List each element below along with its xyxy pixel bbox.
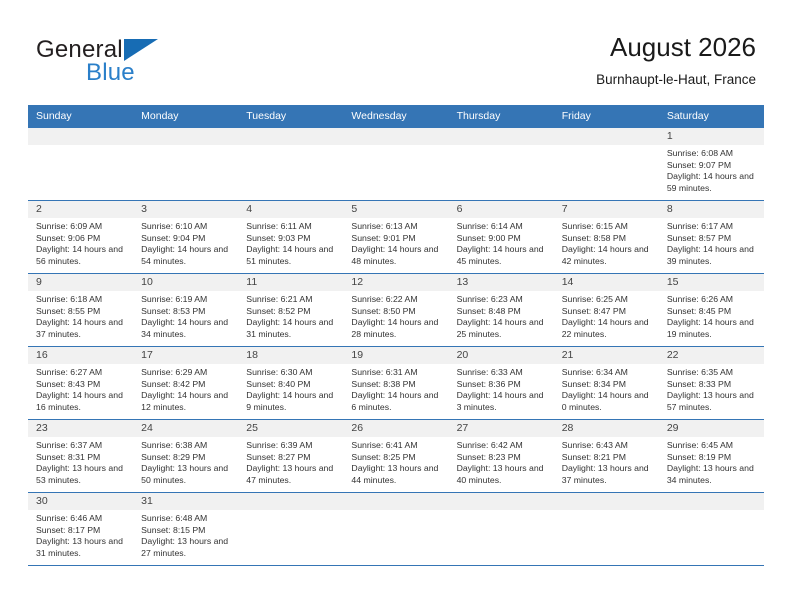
sunset-text: Sunset: 9:00 PM (457, 233, 550, 245)
calendar-day-cell[interactable]: 6Sunrise: 6:14 AMSunset: 9:00 PMDaylight… (449, 201, 554, 274)
calendar-day-cell[interactable]: 24Sunrise: 6:38 AMSunset: 8:29 PMDayligh… (133, 420, 238, 493)
day-number: 29 (659, 420, 764, 437)
day-number: 23 (28, 420, 133, 437)
day-details: Sunrise: 6:21 AMSunset: 8:52 PMDaylight:… (238, 291, 343, 340)
calendar-body: 1Sunrise: 6:08 AMSunset: 9:07 PMDaylight… (28, 128, 764, 566)
calendar-cell-inner: 31Sunrise: 6:48 AMSunset: 8:15 PMDayligh… (133, 493, 238, 565)
sunset-text: Sunset: 8:29 PM (141, 452, 234, 464)
daylight-text: Daylight: 14 hours and 39 minutes. (667, 244, 760, 267)
calendar-cell-inner: 12Sunrise: 6:22 AMSunset: 8:50 PMDayligh… (343, 274, 448, 346)
sunrise-text: Sunrise: 6:43 AM (562, 440, 655, 452)
sunrise-text: Sunrise: 6:41 AM (351, 440, 444, 452)
calendar-cell-empty (28, 128, 133, 201)
calendar-cell-inner: 19Sunrise: 6:31 AMSunset: 8:38 PMDayligh… (343, 347, 448, 419)
day-number: 18 (238, 347, 343, 364)
calendar-day-cell[interactable]: 29Sunrise: 6:45 AMSunset: 8:19 PMDayligh… (659, 420, 764, 493)
daylight-text: Daylight: 14 hours and 25 minutes. (457, 317, 550, 340)
sunrise-text: Sunrise: 6:48 AM (141, 513, 234, 525)
calendar-cell-inner: 3Sunrise: 6:10 AMSunset: 9:04 PMDaylight… (133, 201, 238, 273)
calendar-cell-empty (133, 128, 238, 201)
day-number: 12 (343, 274, 448, 291)
calendar-cell-inner (343, 128, 448, 200)
calendar-day-cell[interactable]: 21Sunrise: 6:34 AMSunset: 8:34 PMDayligh… (554, 347, 659, 420)
sunset-text: Sunset: 8:50 PM (351, 306, 444, 318)
calendar-cell-inner: 13Sunrise: 6:23 AMSunset: 8:48 PMDayligh… (449, 274, 554, 346)
calendar-day-cell[interactable]: 8Sunrise: 6:17 AMSunset: 8:57 PMDaylight… (659, 201, 764, 274)
daylight-text: Daylight: 13 hours and 57 minutes. (667, 390, 760, 413)
calendar-day-cell[interactable]: 17Sunrise: 6:29 AMSunset: 8:42 PMDayligh… (133, 347, 238, 420)
calendar-cell-inner: 16Sunrise: 6:27 AMSunset: 8:43 PMDayligh… (28, 347, 133, 419)
weekday-header-tuesday: Tuesday (238, 105, 343, 128)
logo-text-blue: Blue (86, 59, 135, 87)
sunrise-text: Sunrise: 6:29 AM (141, 367, 234, 379)
day-number: 14 (554, 274, 659, 291)
weekday-header-wednesday: Wednesday (343, 105, 448, 128)
calendar-day-cell[interactable]: 3Sunrise: 6:10 AMSunset: 9:04 PMDaylight… (133, 201, 238, 274)
sunrise-text: Sunrise: 6:26 AM (667, 294, 760, 306)
daylight-text: Daylight: 14 hours and 6 minutes. (351, 390, 444, 413)
sunrise-text: Sunrise: 6:46 AM (36, 513, 129, 525)
sunset-text: Sunset: 8:15 PM (141, 525, 234, 537)
calendar-cell-inner: 7Sunrise: 6:15 AMSunset: 8:58 PMDaylight… (554, 201, 659, 273)
day-number (449, 493, 554, 510)
sunset-text: Sunset: 8:38 PM (351, 379, 444, 391)
sunset-text: Sunset: 8:48 PM (457, 306, 550, 318)
calendar-cell-empty (238, 128, 343, 201)
day-number: 8 (659, 201, 764, 218)
calendar-cell-inner (28, 128, 133, 200)
calendar-cell-inner (133, 128, 238, 200)
title-block: August 2026 Burnhaupt-le-Haut, France (596, 30, 756, 90)
day-number: 30 (28, 493, 133, 510)
calendar-cell-inner: 6Sunrise: 6:14 AMSunset: 9:00 PMDaylight… (449, 201, 554, 273)
weekday-header-thursday: Thursday (449, 105, 554, 128)
sunrise-text: Sunrise: 6:23 AM (457, 294, 550, 306)
daylight-text: Daylight: 13 hours and 50 minutes. (141, 463, 234, 486)
calendar-cell-inner: 28Sunrise: 6:43 AMSunset: 8:21 PMDayligh… (554, 420, 659, 492)
sunset-text: Sunset: 8:42 PM (141, 379, 234, 391)
daylight-text: Daylight: 14 hours and 12 minutes. (141, 390, 234, 413)
sunset-text: Sunset: 8:21 PM (562, 452, 655, 464)
sunset-text: Sunset: 9:07 PM (667, 160, 760, 172)
sunrise-text: Sunrise: 6:17 AM (667, 221, 760, 233)
sunrise-text: Sunrise: 6:11 AM (246, 221, 339, 233)
sunrise-text: Sunrise: 6:14 AM (457, 221, 550, 233)
day-details: Sunrise: 6:22 AMSunset: 8:50 PMDaylight:… (343, 291, 448, 340)
calendar-week-row: 23Sunrise: 6:37 AMSunset: 8:31 PMDayligh… (28, 420, 764, 493)
daylight-text: Daylight: 14 hours and 56 minutes. (36, 244, 129, 267)
weekday-header-saturday: Saturday (659, 105, 764, 128)
daylight-text: Daylight: 13 hours and 31 minutes. (36, 536, 129, 559)
calendar-cell-inner: 11Sunrise: 6:21 AMSunset: 8:52 PMDayligh… (238, 274, 343, 346)
calendar-cell-inner: 10Sunrise: 6:19 AMSunset: 8:53 PMDayligh… (133, 274, 238, 346)
sunset-text: Sunset: 8:57 PM (667, 233, 760, 245)
sunrise-text: Sunrise: 6:19 AM (141, 294, 234, 306)
day-number (659, 493, 764, 510)
calendar-day-cell[interactable]: 4Sunrise: 6:11 AMSunset: 9:03 PMDaylight… (238, 201, 343, 274)
day-number: 10 (133, 274, 238, 291)
day-details: Sunrise: 6:17 AMSunset: 8:57 PMDaylight:… (659, 218, 764, 267)
day-number: 20 (449, 347, 554, 364)
weekday-header-sunday: Sunday (28, 105, 133, 128)
sunset-text: Sunset: 8:40 PM (246, 379, 339, 391)
calendar-cell-inner: 26Sunrise: 6:41 AMSunset: 8:25 PMDayligh… (343, 420, 448, 492)
calendar-cell-empty (449, 493, 554, 566)
sunrise-text: Sunrise: 6:35 AM (667, 367, 760, 379)
daylight-text: Daylight: 14 hours and 16 minutes. (36, 390, 129, 413)
daylight-text: Daylight: 14 hours and 54 minutes. (141, 244, 234, 267)
day-number: 19 (343, 347, 448, 364)
day-number: 31 (133, 493, 238, 510)
day-number: 6 (449, 201, 554, 218)
calendar-cell-inner: 27Sunrise: 6:42 AMSunset: 8:23 PMDayligh… (449, 420, 554, 492)
calendar-cell-inner: 25Sunrise: 6:39 AMSunset: 8:27 PMDayligh… (238, 420, 343, 492)
calendar-cell-inner: 29Sunrise: 6:45 AMSunset: 8:19 PMDayligh… (659, 420, 764, 492)
daylight-text: Daylight: 14 hours and 28 minutes. (351, 317, 444, 340)
calendar-cell-empty (238, 493, 343, 566)
day-details: Sunrise: 6:09 AMSunset: 9:06 PMDaylight:… (28, 218, 133, 267)
day-number (554, 493, 659, 510)
day-number: 4 (238, 201, 343, 218)
calendar-cell-inner: 22Sunrise: 6:35 AMSunset: 8:33 PMDayligh… (659, 347, 764, 419)
sunrise-text: Sunrise: 6:21 AM (246, 294, 339, 306)
day-number: 3 (133, 201, 238, 218)
calendar-cell-inner: 8Sunrise: 6:17 AMSunset: 8:57 PMDaylight… (659, 201, 764, 273)
sunrise-text: Sunrise: 6:30 AM (246, 367, 339, 379)
calendar-cell-inner: 5Sunrise: 6:13 AMSunset: 9:01 PMDaylight… (343, 201, 448, 273)
weekday-header-row: Sunday Monday Tuesday Wednesday Thursday… (28, 105, 764, 128)
calendar-week-row: 2Sunrise: 6:09 AMSunset: 9:06 PMDaylight… (28, 201, 764, 274)
calendar-cell-inner: 23Sunrise: 6:37 AMSunset: 8:31 PMDayligh… (28, 420, 133, 492)
sunset-text: Sunset: 8:36 PM (457, 379, 550, 391)
daylight-text: Daylight: 13 hours and 47 minutes. (246, 463, 339, 486)
calendar-cell-inner (238, 493, 343, 565)
calendar-cell-empty (659, 493, 764, 566)
calendar-day-cell[interactable]: 23Sunrise: 6:37 AMSunset: 8:31 PMDayligh… (28, 420, 133, 493)
calendar-cell-empty (343, 493, 448, 566)
sunrise-text: Sunrise: 6:10 AM (141, 221, 234, 233)
sunset-text: Sunset: 8:53 PM (141, 306, 234, 318)
calendar-day-cell[interactable]: 11Sunrise: 6:21 AMSunset: 8:52 PMDayligh… (238, 274, 343, 347)
weekday-header-friday: Friday (554, 105, 659, 128)
sunrise-text: Sunrise: 6:13 AM (351, 221, 444, 233)
daylight-text: Daylight: 14 hours and 3 minutes. (457, 390, 550, 413)
day-number (238, 128, 343, 145)
calendar-day-cell[interactable]: 10Sunrise: 6:19 AMSunset: 8:53 PMDayligh… (133, 274, 238, 347)
day-details: Sunrise: 6:43 AMSunset: 8:21 PMDaylight:… (554, 437, 659, 486)
calendar-week-row: 9Sunrise: 6:18 AMSunset: 8:55 PMDaylight… (28, 274, 764, 347)
day-details: Sunrise: 6:30 AMSunset: 8:40 PMDaylight:… (238, 364, 343, 413)
calendar-cell-empty (343, 128, 448, 201)
day-number: 7 (554, 201, 659, 218)
calendar-day-cell[interactable]: 27Sunrise: 6:42 AMSunset: 8:23 PMDayligh… (449, 420, 554, 493)
daylight-text: Daylight: 13 hours and 40 minutes. (457, 463, 550, 486)
sunset-text: Sunset: 8:58 PM (562, 233, 655, 245)
weekday-header-monday: Monday (133, 105, 238, 128)
calendar-cell-inner (343, 493, 448, 565)
calendar-cell-inner: 2Sunrise: 6:09 AMSunset: 9:06 PMDaylight… (28, 201, 133, 273)
triangle-flag-icon (124, 39, 158, 61)
general-blue-logo[interactable]: General Blue (36, 36, 246, 88)
calendar-cell-inner: 30Sunrise: 6:46 AMSunset: 8:17 PMDayligh… (28, 493, 133, 565)
sunset-text: Sunset: 8:34 PM (562, 379, 655, 391)
sunset-text: Sunset: 9:03 PM (246, 233, 339, 245)
calendar-day-cell[interactable]: 18Sunrise: 6:30 AMSunset: 8:40 PMDayligh… (238, 347, 343, 420)
sunset-text: Sunset: 8:55 PM (36, 306, 129, 318)
sunset-text: Sunset: 8:47 PM (562, 306, 655, 318)
sunrise-text: Sunrise: 6:33 AM (457, 367, 550, 379)
day-details: Sunrise: 6:48 AMSunset: 8:15 PMDaylight:… (133, 510, 238, 559)
day-details: Sunrise: 6:10 AMSunset: 9:04 PMDaylight:… (133, 218, 238, 267)
daylight-text: Daylight: 14 hours and 37 minutes. (36, 317, 129, 340)
day-details: Sunrise: 6:25 AMSunset: 8:47 PMDaylight:… (554, 291, 659, 340)
calendar-cell-inner: 1Sunrise: 6:08 AMSunset: 9:07 PMDaylight… (659, 128, 764, 200)
day-number: 24 (133, 420, 238, 437)
daylight-text: Daylight: 14 hours and 31 minutes. (246, 317, 339, 340)
day-number (343, 128, 448, 145)
sunset-text: Sunset: 8:45 PM (667, 306, 760, 318)
calendar-week-row: 30Sunrise: 6:46 AMSunset: 8:17 PMDayligh… (28, 493, 764, 566)
calendar-day-cell[interactable]: 30Sunrise: 6:46 AMSunset: 8:17 PMDayligh… (28, 493, 133, 566)
sunrise-text: Sunrise: 6:45 AM (667, 440, 760, 452)
sunrise-text: Sunrise: 6:38 AM (141, 440, 234, 452)
calendar-day-cell[interactable]: 28Sunrise: 6:43 AMSunset: 8:21 PMDayligh… (554, 420, 659, 493)
calendar-day-cell[interactable]: 22Sunrise: 6:35 AMSunset: 8:33 PMDayligh… (659, 347, 764, 420)
sunset-text: Sunset: 9:01 PM (351, 233, 444, 245)
day-details: Sunrise: 6:45 AMSunset: 8:19 PMDaylight:… (659, 437, 764, 486)
daylight-text: Daylight: 14 hours and 34 minutes. (141, 317, 234, 340)
day-number: 15 (659, 274, 764, 291)
calendar-day-cell[interactable]: 1Sunrise: 6:08 AMSunset: 9:07 PMDaylight… (659, 128, 764, 201)
calendar-week-row: 1Sunrise: 6:08 AMSunset: 9:07 PMDaylight… (28, 128, 764, 201)
sunrise-text: Sunrise: 6:22 AM (351, 294, 444, 306)
calendar-day-cell[interactable]: 12Sunrise: 6:22 AMSunset: 8:50 PMDayligh… (343, 274, 448, 347)
day-details: Sunrise: 6:31 AMSunset: 8:38 PMDaylight:… (343, 364, 448, 413)
calendar-cell-inner (659, 493, 764, 565)
calendar-day-cell[interactable]: 25Sunrise: 6:39 AMSunset: 8:27 PMDayligh… (238, 420, 343, 493)
daylight-text: Daylight: 14 hours and 45 minutes. (457, 244, 550, 267)
calendar-day-cell[interactable]: 20Sunrise: 6:33 AMSunset: 8:36 PMDayligh… (449, 347, 554, 420)
daylight-text: Daylight: 13 hours and 27 minutes. (141, 536, 234, 559)
calendar-day-cell[interactable]: 13Sunrise: 6:23 AMSunset: 8:48 PMDayligh… (449, 274, 554, 347)
daylight-text: Daylight: 14 hours and 42 minutes. (562, 244, 655, 267)
calendar-cell-inner (554, 128, 659, 200)
day-number: 22 (659, 347, 764, 364)
sunset-text: Sunset: 8:23 PM (457, 452, 550, 464)
daylight-text: Daylight: 14 hours and 51 minutes. (246, 244, 339, 267)
calendar-cell-inner: 9Sunrise: 6:18 AMSunset: 8:55 PMDaylight… (28, 274, 133, 346)
calendar-cell-inner: 21Sunrise: 6:34 AMSunset: 8:34 PMDayligh… (554, 347, 659, 419)
daylight-text: Daylight: 13 hours and 53 minutes. (36, 463, 129, 486)
sunset-text: Sunset: 8:52 PM (246, 306, 339, 318)
day-details: Sunrise: 6:08 AMSunset: 9:07 PMDaylight:… (659, 145, 764, 194)
day-details: Sunrise: 6:27 AMSunset: 8:43 PMDaylight:… (28, 364, 133, 413)
sunrise-text: Sunrise: 6:25 AM (562, 294, 655, 306)
calendar-day-cell[interactable]: 14Sunrise: 6:25 AMSunset: 8:47 PMDayligh… (554, 274, 659, 347)
sunrise-text: Sunrise: 6:27 AM (36, 367, 129, 379)
day-details: Sunrise: 6:37 AMSunset: 8:31 PMDaylight:… (28, 437, 133, 486)
day-details: Sunrise: 6:23 AMSunset: 8:48 PMDaylight:… (449, 291, 554, 340)
day-details: Sunrise: 6:34 AMSunset: 8:34 PMDaylight:… (554, 364, 659, 413)
day-number: 21 (554, 347, 659, 364)
calendar-page: General Blue August 2026 Burnhaupt-le-Ha… (0, 0, 792, 612)
day-number (554, 128, 659, 145)
calendar-week-row: 16Sunrise: 6:27 AMSunset: 8:43 PMDayligh… (28, 347, 764, 420)
day-number: 25 (238, 420, 343, 437)
calendar-cell-inner (238, 128, 343, 200)
calendar-day-cell[interactable]: 16Sunrise: 6:27 AMSunset: 8:43 PMDayligh… (28, 347, 133, 420)
day-details: Sunrise: 6:33 AMSunset: 8:36 PMDaylight:… (449, 364, 554, 413)
day-number: 9 (28, 274, 133, 291)
calendar-day-cell[interactable]: 5Sunrise: 6:13 AMSunset: 9:01 PMDaylight… (343, 201, 448, 274)
sunrise-text: Sunrise: 6:34 AM (562, 367, 655, 379)
sunset-text: Sunset: 8:27 PM (246, 452, 339, 464)
day-number: 13 (449, 274, 554, 291)
daylight-text: Daylight: 14 hours and 48 minutes. (351, 244, 444, 267)
sunrise-text: Sunrise: 6:42 AM (457, 440, 550, 452)
calendar-cell-inner: 15Sunrise: 6:26 AMSunset: 8:45 PMDayligh… (659, 274, 764, 346)
day-details: Sunrise: 6:41 AMSunset: 8:25 PMDaylight:… (343, 437, 448, 486)
calendar-cell-empty (554, 128, 659, 201)
daylight-text: Daylight: 13 hours and 44 minutes. (351, 463, 444, 486)
day-details: Sunrise: 6:42 AMSunset: 8:23 PMDaylight:… (449, 437, 554, 486)
daylight-text: Daylight: 13 hours and 37 minutes. (562, 463, 655, 486)
day-number: 17 (133, 347, 238, 364)
calendar-cell-inner: 14Sunrise: 6:25 AMSunset: 8:47 PMDayligh… (554, 274, 659, 346)
day-number (238, 493, 343, 510)
day-number: 26 (343, 420, 448, 437)
daylight-text: Daylight: 13 hours and 34 minutes. (667, 463, 760, 486)
day-number (28, 128, 133, 145)
day-number: 5 (343, 201, 448, 218)
sunset-text: Sunset: 8:25 PM (351, 452, 444, 464)
day-number: 1 (659, 128, 764, 145)
sunset-text: Sunset: 8:43 PM (36, 379, 129, 391)
sunrise-text: Sunrise: 6:08 AM (667, 148, 760, 160)
daylight-text: Daylight: 14 hours and 9 minutes. (246, 390, 339, 413)
day-number: 2 (28, 201, 133, 218)
day-number (449, 128, 554, 145)
sunset-text: Sunset: 8:17 PM (36, 525, 129, 537)
day-number: 27 (449, 420, 554, 437)
calendar-cell-inner: 17Sunrise: 6:29 AMSunset: 8:42 PMDayligh… (133, 347, 238, 419)
sunrise-text: Sunrise: 6:31 AM (351, 367, 444, 379)
calendar-day-cell[interactable]: 26Sunrise: 6:41 AMSunset: 8:25 PMDayligh… (343, 420, 448, 493)
calendar-day-cell[interactable]: 2Sunrise: 6:09 AMSunset: 9:06 PMDaylight… (28, 201, 133, 274)
day-number: 28 (554, 420, 659, 437)
calendar-cell-inner (449, 493, 554, 565)
sunset-text: Sunset: 9:04 PM (141, 233, 234, 245)
day-details: Sunrise: 6:15 AMSunset: 8:58 PMDaylight:… (554, 218, 659, 267)
day-details: Sunrise: 6:35 AMSunset: 8:33 PMDaylight:… (659, 364, 764, 413)
daylight-text: Daylight: 14 hours and 22 minutes. (562, 317, 655, 340)
calendar-cell-inner: 20Sunrise: 6:33 AMSunset: 8:36 PMDayligh… (449, 347, 554, 419)
calendar-cell-inner (449, 128, 554, 200)
calendar-cell-inner: 24Sunrise: 6:38 AMSunset: 8:29 PMDayligh… (133, 420, 238, 492)
day-details: Sunrise: 6:13 AMSunset: 9:01 PMDaylight:… (343, 218, 448, 267)
calendar-cell-empty (554, 493, 659, 566)
day-details: Sunrise: 6:19 AMSunset: 8:53 PMDaylight:… (133, 291, 238, 340)
day-details: Sunrise: 6:18 AMSunset: 8:55 PMDaylight:… (28, 291, 133, 340)
daylight-text: Daylight: 14 hours and 19 minutes. (667, 317, 760, 340)
sunrise-sunset-calendar: Sunday Monday Tuesday Wednesday Thursday… (28, 105, 764, 566)
sunset-text: Sunset: 8:33 PM (667, 379, 760, 391)
sunrise-text: Sunrise: 6:39 AM (246, 440, 339, 452)
day-details: Sunrise: 6:46 AMSunset: 8:17 PMDaylight:… (28, 510, 133, 559)
day-number: 11 (238, 274, 343, 291)
sunset-text: Sunset: 8:31 PM (36, 452, 129, 464)
calendar-day-cell[interactable]: 7Sunrise: 6:15 AMSunset: 8:58 PMDaylight… (554, 201, 659, 274)
page-subtitle: Burnhaupt-le-Haut, France (596, 70, 756, 90)
calendar-day-cell[interactable]: 19Sunrise: 6:31 AMSunset: 8:38 PMDayligh… (343, 347, 448, 420)
daylight-text: Daylight: 14 hours and 0 minutes. (562, 390, 655, 413)
calendar-cell-inner (554, 493, 659, 565)
day-details: Sunrise: 6:29 AMSunset: 8:42 PMDaylight:… (133, 364, 238, 413)
sunrise-text: Sunrise: 6:09 AM (36, 221, 129, 233)
page-header: General Blue August 2026 Burnhaupt-le-Ha… (0, 0, 792, 102)
day-details: Sunrise: 6:26 AMSunset: 8:45 PMDaylight:… (659, 291, 764, 340)
day-number (343, 493, 448, 510)
day-details: Sunrise: 6:11 AMSunset: 9:03 PMDaylight:… (238, 218, 343, 267)
sunset-text: Sunset: 9:06 PM (36, 233, 129, 245)
day-details: Sunrise: 6:14 AMSunset: 9:00 PMDaylight:… (449, 218, 554, 267)
calendar-cell-inner: 4Sunrise: 6:11 AMSunset: 9:03 PMDaylight… (238, 201, 343, 273)
calendar-day-cell[interactable]: 31Sunrise: 6:48 AMSunset: 8:15 PMDayligh… (133, 493, 238, 566)
day-details: Sunrise: 6:38 AMSunset: 8:29 PMDaylight:… (133, 437, 238, 486)
calendar-day-cell[interactable]: 15Sunrise: 6:26 AMSunset: 8:45 PMDayligh… (659, 274, 764, 347)
day-number: 16 (28, 347, 133, 364)
sunrise-text: Sunrise: 6:15 AM (562, 221, 655, 233)
calendar-day-cell[interactable]: 9Sunrise: 6:18 AMSunset: 8:55 PMDaylight… (28, 274, 133, 347)
day-details: Sunrise: 6:39 AMSunset: 8:27 PMDaylight:… (238, 437, 343, 486)
sunrise-text: Sunrise: 6:18 AM (36, 294, 129, 306)
day-number (133, 128, 238, 145)
daylight-text: Daylight: 14 hours and 59 minutes. (667, 171, 760, 194)
sunrise-text: Sunrise: 6:37 AM (36, 440, 129, 452)
sunset-text: Sunset: 8:19 PM (667, 452, 760, 464)
calendar-cell-empty (449, 128, 554, 201)
page-title: August 2026 (596, 30, 756, 64)
calendar-cell-inner: 18Sunrise: 6:30 AMSunset: 8:40 PMDayligh… (238, 347, 343, 419)
